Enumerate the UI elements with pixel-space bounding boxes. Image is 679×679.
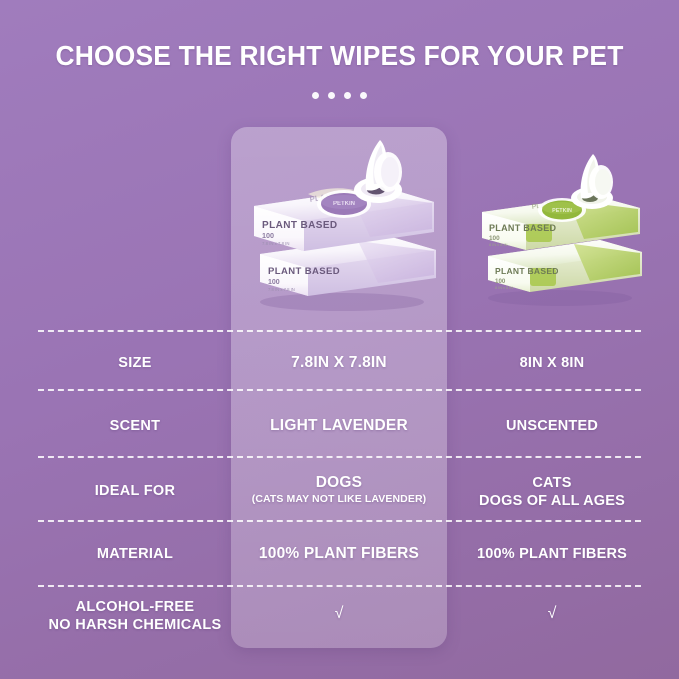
row-label-scent: SCENT <box>35 418 235 436</box>
cell-material-right: 100% PLANT FIBERS <box>447 546 657 564</box>
cell-ideal-for-right-line1: CATS <box>532 475 571 491</box>
cell-ideal-for-left-main: DOGS <box>316 474 362 491</box>
cell-ideal-for-left: DOGS (CATS MAY NOT LIKE LAVENDER) <box>231 473 447 506</box>
row-divider <box>38 456 641 458</box>
cell-alcohol-free-left-check: √ <box>231 604 447 624</box>
row-label-alcohol-free-line2: NO HARSH CHEMICALS <box>35 617 235 635</box>
cell-ideal-for-right-line2: DOGS OF ALL AGES <box>447 493 657 511</box>
cell-ideal-for-right: CATS DOGS OF ALL AGES <box>447 473 657 510</box>
cell-material-left: 100% PLANT FIBERS <box>231 545 447 564</box>
cell-size-left: 7.8IN X 7.8IN <box>231 354 447 373</box>
cell-scent-right: UNSCENTED <box>447 418 657 436</box>
cell-alcohol-free-right-check: √ <box>447 604 657 624</box>
row-divider <box>38 520 641 522</box>
cell-scent-left: LIGHT LAVENDER <box>231 417 447 436</box>
cell-ideal-for-left-note: (CATS MAY NOT LIKE LAVENDER) <box>231 493 447 506</box>
row-divider <box>38 585 641 587</box>
cell-size-right: 8IN X 8IN <box>447 355 657 373</box>
row-divider <box>38 389 641 391</box>
row-divider <box>38 330 641 332</box>
row-label-alcohol-free-line1: ALCOHOL-FREE <box>76 599 195 615</box>
row-label-alcohol-free: ALCOHOL-FREE NO HARSH CHEMICALS <box>35 597 235 634</box>
row-label-ideal-for: IDEAL FOR <box>35 483 235 501</box>
infographic-canvas: CHOOSE THE RIGHT WIPES FOR YOUR PET <box>0 0 679 679</box>
comparison-table: SIZE 7.8IN X 7.8IN 8IN X 8IN SCENT LIGHT… <box>0 0 679 679</box>
row-label-size: SIZE <box>35 355 235 373</box>
row-label-material: MATERIAL <box>35 546 235 564</box>
